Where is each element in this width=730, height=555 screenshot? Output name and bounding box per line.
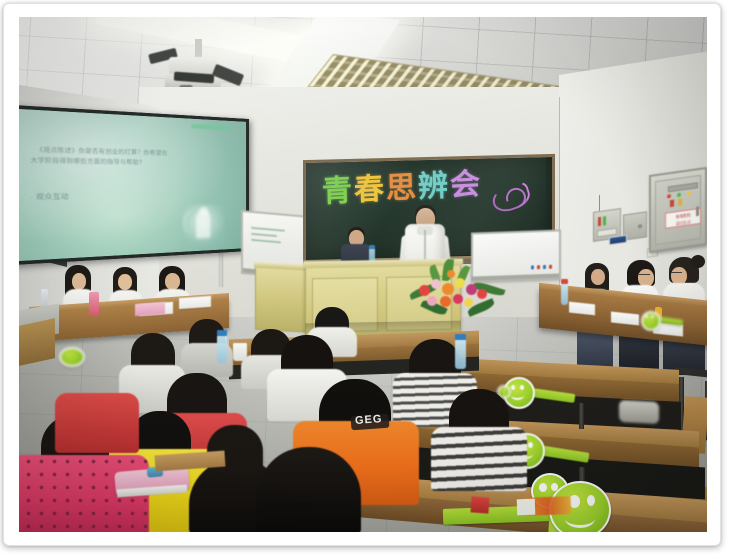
slide-line-2: 大学阶段得到哪些方面的指导与帮助? [30,156,142,166]
slide-line-3: · 观众互动 [30,191,68,202]
panelist-face [591,269,605,285]
projection-screen: 《观点陈述》你是否有创业的打算？你希望在 大学阶段得到哪些方面的指导与帮助? ·… [19,105,249,266]
blackboard-char-2: 春 [354,171,387,208]
photo-frame: 有电危险 请勿乱动 《观点陈述》你是否有创业的打算？你希望在 大学阶段得到哪些方… [3,3,721,546]
red-booklet [470,496,489,513]
bag-under-desk [619,400,659,424]
floral-arrangement [413,263,499,321]
panelist-face [118,274,132,290]
water-bottle [455,339,466,369]
bottle-cap [455,334,466,340]
audience-long-hair [257,447,361,532]
blackboard-title: 青春思辨会 [322,169,483,209]
water-bottle [217,335,227,363]
panelist-face [72,273,86,290]
hair-bun-icon [691,255,705,268]
water-bottle [561,283,568,305]
blackboard-char-1: 青 [322,173,355,210]
screenshot-root: 有电危险 请勿乱动 《观点陈述》你是否有创业的打算？你希望在 大学阶段得到哪些方… [0,0,730,555]
projector-mount [195,39,202,59]
panelist-face [165,273,180,290]
panel-vent-slot [668,182,698,192]
panel-door: 有电危险 请勿乱动 [655,175,701,245]
antenna-icon [599,195,600,211]
glasses-icon [671,272,682,276]
blackboard-char-3: 思 [386,170,419,207]
pink-paper [135,302,165,316]
audience-red-shirt [55,393,139,453]
pink-cup [89,292,99,316]
blackboard-char-4: 辨 [418,168,451,205]
shirt-print-text: GEG [355,413,383,427]
bottle-cap [217,330,227,336]
glasses-icon [639,274,650,278]
projected-slide: 《观点陈述》你是否有创业的打算？你希望在 大学阶段得到哪些方面的指导与帮助? ·… [19,109,246,262]
left-corner-desk-2 [19,318,55,366]
audience-striped-shirt [431,427,527,491]
electrical-distribution-panel: 有电危险 请勿乱动 [649,167,707,253]
bottle-cap [369,245,375,249]
photograph: 有电危险 请勿乱动 《观点陈述》你是否有创业的打算？你希望在 大学阶段得到哪些方… [19,17,707,532]
paper-cup [233,343,247,361]
bottle-cap [561,279,568,284]
fan-paper [517,499,536,516]
blackboard-char-5: 会 [450,167,483,204]
papers [179,296,211,309]
